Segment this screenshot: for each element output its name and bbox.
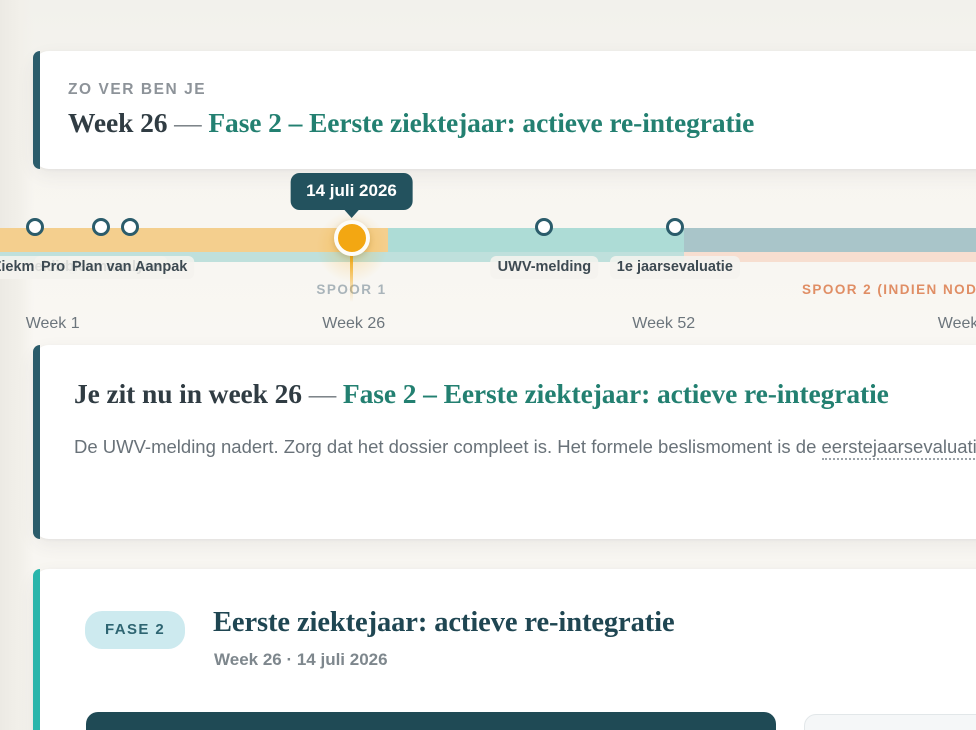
narrative-body-before: De UWV-melding nadert. Zorg dat het doss… xyxy=(74,436,822,457)
timeline-axis-tick: Week 52 xyxy=(632,315,695,333)
narrative-card: Je zit nu in week 26 — Fase 2 – Eerste z… xyxy=(33,345,976,539)
phase-detail-title: Eerste ziektejaar: actieve re-integratie xyxy=(213,607,675,639)
current-marker-tooltip: 14 juli 2026 xyxy=(290,173,413,210)
phase-primary-panel[interactable] xyxy=(86,712,776,730)
status-eyebrow-label: ZO VER BEN JE xyxy=(68,81,206,99)
timeline-milestone-dot[interactable] xyxy=(26,218,44,236)
narrative-heading-prefix: Je zit nu in week 26 xyxy=(74,378,302,409)
timeline-axis-tick: Week 104 xyxy=(938,315,976,333)
progress-timeline[interactable]: SPOOR 1SPOOR 2 (INDIEN NODIG) Ziekmeldin… xyxy=(0,170,976,340)
status-week-label: Week 26 xyxy=(68,107,167,138)
status-phase-label: Fase 2 – Eerste ziektejaar: actieve re-i… xyxy=(208,107,754,138)
phase-detail-card: FASE 2 Eerste ziektejaar: actieve re-int… xyxy=(33,569,976,730)
status-separator: — xyxy=(174,107,201,138)
page-stage: ZO VER BEN JE Week 26 — Fase 2 – Eerste … xyxy=(0,0,976,730)
timeline-band xyxy=(684,228,976,252)
timeline-milestone-dot[interactable] xyxy=(92,218,110,236)
timeline-track[interactable] xyxy=(0,228,976,252)
phase-detail-subtitle: Week 26 · 14 juli 2026 xyxy=(214,650,388,670)
timeline-spoor-label: SPOOR 2 (INDIEN NODIG) xyxy=(802,282,976,297)
narrative-body: De UWV-melding nadert. Zorg dat het doss… xyxy=(74,426,976,468)
status-summary-card: ZO VER BEN JE Week 26 — Fase 2 – Eerste … xyxy=(33,51,976,169)
status-headline: Week 26 — Fase 2 – Eerste ziektejaar: ac… xyxy=(68,107,754,139)
timeline-axis-tick: Week 1 xyxy=(26,315,80,333)
timeline-milestone-label[interactable]: UWV-melding xyxy=(491,256,598,279)
phase-badge: FASE 2 xyxy=(85,611,185,649)
current-marker-dot[interactable] xyxy=(334,220,370,256)
timeline-milestone-dot[interactable] xyxy=(121,218,139,236)
narrative-heading-phase: Fase 2 – Eerste ziektejaar: actieve re-i… xyxy=(343,378,889,409)
timeline-milestone-label[interactable]: Plan van Aanpak xyxy=(65,256,195,279)
narrative-heading: Je zit nu in week 26 — Fase 2 – Eerste z… xyxy=(74,378,889,410)
narrative-heading-separator: — xyxy=(309,378,336,409)
timeline-axis-tick: Week 26 xyxy=(322,315,385,333)
glossary-term-eerstejaarsevaluatie[interactable]: eerstejaarsevaluatie xyxy=(822,436,976,460)
current-marker-stem xyxy=(350,254,353,302)
timeline-milestone-dot[interactable] xyxy=(666,218,684,236)
timeline-milestone-label[interactable]: 1e jaarsevaluatie xyxy=(610,256,740,279)
phase-secondary-panel[interactable] xyxy=(804,714,976,730)
